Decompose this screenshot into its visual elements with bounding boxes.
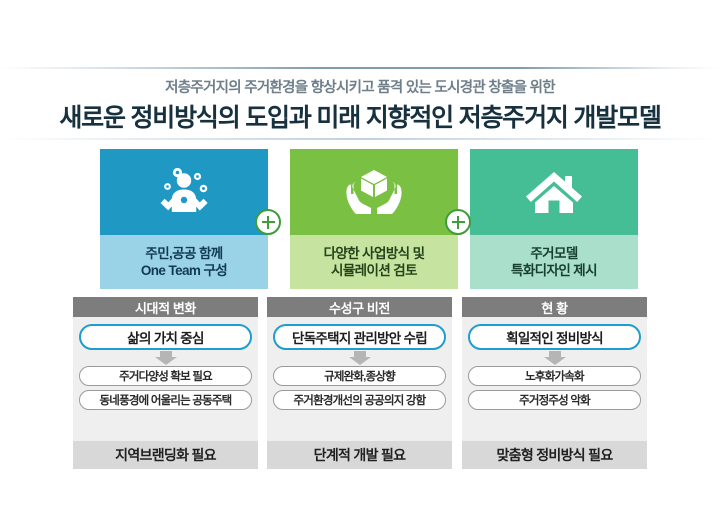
column-body: 삶의 가치 중심 주거다양성 확보 필요 동네풍경에 어울리는 공동주택 [73,317,258,410]
column-item-pill[interactable]: 규제완화,종상향 [273,366,446,386]
title-block: 저층주거지의 주거환경을 향상시키고 품격 있는 도시경관 창출을 위한 새로운… [0,62,720,142]
slide-canvas: 저층주거지의 주거환경을 향상시키고 품격 있는 도시경관 창출을 위한 새로운… [0,0,720,525]
card-caption-line2: 시뮬레이션 검토 [331,262,417,279]
slide-title: 새로운 정비방식의 도입과 미래 지향적인 저층주거지 개발모델 [0,98,720,134]
people-collaboration-icon [153,166,215,218]
arrow-area [468,350,641,366]
card-icon-area [470,149,638,235]
card-caption-line1: 주거모델 [530,245,577,262]
column-footer: 단계적 개발 필요 [267,441,452,469]
card-icon-area [290,149,458,235]
card-caption-line2: One Team 구성 [141,262,227,279]
column-header: 수성구 비전 [267,297,452,317]
title-divider-bottom [0,138,720,140]
card-caption: 주거모델 특화디자인 제시 [470,235,638,289]
slide-subtitle: 저층주거지의 주거환경을 향상시키고 품격 있는 도시경관 창출을 위한 [0,76,720,97]
column-header: 현 황 [462,297,647,317]
column-footer: 맞춤형 정비방식 필요 [462,441,647,469]
card-caption: 다양한 사업방식 및 시뮬레이션 검토 [290,235,458,289]
analysis-column-current-status: 현 황 획일적인 정비방식 노후화가속화 주거정주성 악화 맞춤형 정비방식 필… [462,297,647,469]
column-item-pill[interactable]: 노후화가속화 [468,366,641,386]
strategy-card-one-team[interactable]: 주민,공공 함께 One Team 구성 [100,149,268,289]
analysis-column-suseong-vision: 수성구 비전 단독주택지 관리방안 수립 규제완화,종상향 주거환경개선의 공공… [267,297,452,469]
card-caption: 주민,공공 함께 One Team 구성 [100,235,268,289]
column-footer: 지역브랜딩화 필요 [73,441,258,469]
column-body: 획일적인 정비방식 노후화가속화 주거정주성 악화 [462,317,647,410]
strategy-card-housing-model[interactable]: 주거모델 특화디자인 제시 [470,149,638,289]
column-item-pill[interactable]: 주거다양성 확보 필요 [79,366,252,386]
card-icon-area [100,149,268,235]
column-key-pill[interactable]: 삶의 가치 중심 [79,324,252,350]
arrow-area [79,350,252,366]
column-item-pill[interactable]: 동네풍경에 어울리는 공동주택 [79,390,252,410]
column-key-pill[interactable]: 단독주택지 관리방안 수립 [273,324,446,350]
house-icon [523,166,585,218]
hands-holding-box-icon [343,166,405,218]
analysis-columns-row: 시대적 변화 삶의 가치 중심 주거다양성 확보 필요 동네풍경에 어울리는 공… [0,297,720,469]
arrow-down-icon [155,351,177,365]
strategy-cards-row: 주민,공공 함께 One Team 구성 [0,149,720,289]
plus-icon [255,209,281,235]
title-divider-top [0,67,720,69]
arrow-area [273,350,446,366]
arrow-down-icon [544,351,566,365]
analysis-column-era-change: 시대적 변화 삶의 가치 중심 주거다양성 확보 필요 동네풍경에 어울리는 공… [73,297,258,469]
plus-icon [445,209,471,235]
card-caption-line1: 다양한 사업방식 및 [324,245,425,262]
card-caption-line1: 주민,공공 함께 [145,245,222,262]
card-caption-line2: 특화디자인 제시 [511,262,597,279]
column-item-pill[interactable]: 주거정주성 악화 [468,390,641,410]
column-item-pill[interactable]: 주거환경개선의 공공의지 강함 [273,390,446,410]
column-body: 단독주택지 관리방안 수립 규제완화,종상향 주거환경개선의 공공의지 강함 [267,317,452,410]
column-header: 시대적 변화 [73,297,258,317]
column-key-pill[interactable]: 획일적인 정비방식 [468,324,641,350]
arrow-down-icon [349,351,371,365]
strategy-card-business-methods[interactable]: 다양한 사업방식 및 시뮬레이션 검토 [290,149,458,289]
